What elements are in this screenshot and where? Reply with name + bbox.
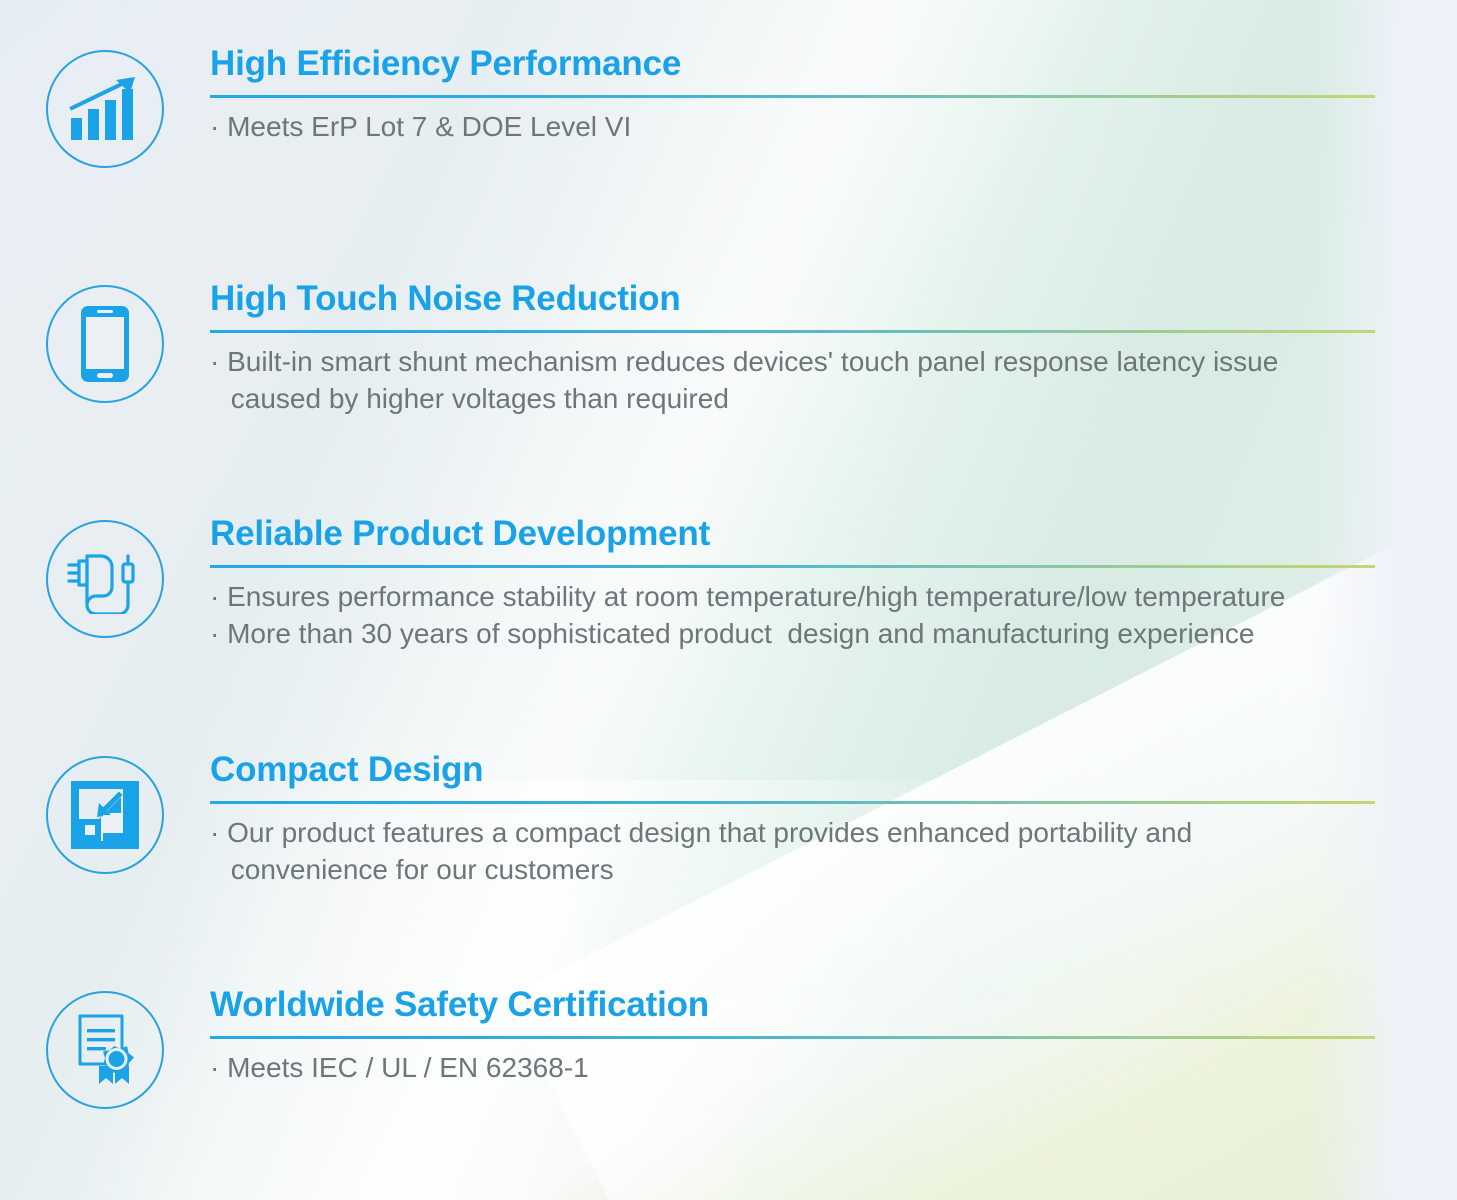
feature-bullet: More than 30 years of sophisticated prod… [210,615,1375,652]
feature-bullet-list: Ensures performance stability at room te… [210,578,1375,652]
certificate-seal-icon [46,991,164,1109]
feature-divider-rule [210,1036,1375,1039]
feature-bullet: Meets IEC / UL / EN 62368-1 [210,1049,1375,1086]
feature-bullet-list: Our product features a compact design th… [210,814,1375,888]
feature-item-compact-design: Compact Design Our product features a co… [0,752,1457,888]
feature-title: Compact Design [210,752,1375,787]
feature-item-worldwide-safety-certification: Worldwide Safety Certification Meets IEC… [0,987,1457,1109]
feature-bullet-list: Meets ErP Lot 7 & DOE Level VI [210,108,1375,145]
feature-divider-rule [210,565,1375,568]
feature-item-high-touch-noise-reduction: High Touch Noise Reduction Built-in smar… [0,281,1457,417]
feature-text-block: Compact Design Our product features a co… [210,752,1457,888]
feature-item-reliable-product-development: Reliable Product Development Ensures per… [0,516,1457,652]
bar-chart-growth-icon [46,50,164,168]
feature-title: Reliable Product Development [210,516,1375,551]
feature-title: High Efficiency Performance [210,46,1375,81]
smartphone-icon [46,285,164,403]
feature-text-block: High Efficiency Performance Meets ErP Lo… [210,46,1457,145]
feature-bullet-list: Built-in smart shunt mechanism reduces d… [210,343,1375,417]
power-adapter-icon [46,520,164,638]
feature-bullet-list: Meets IEC / UL / EN 62368-1 [210,1049,1375,1086]
feature-text-block: High Touch Noise Reduction Built-in smar… [210,281,1457,417]
feature-item-high-efficiency-performance: High Efficiency Performance Meets ErP Lo… [0,46,1457,168]
feature-icon-slot [0,516,210,638]
compact-resize-icon [46,756,164,874]
feature-bullet: Built-in smart shunt mechanism reduces d… [210,343,1375,417]
feature-text-block: Reliable Product Development Ensures per… [210,516,1457,652]
feature-text-block: Worldwide Safety Certification Meets IEC… [210,987,1457,1086]
feature-icon-slot [0,752,210,874]
feature-icon-slot [0,46,210,168]
feature-icon-slot [0,987,210,1109]
feature-list: High Efficiency Performance Meets ErP Lo… [0,0,1457,1200]
feature-bullet: Our product features a compact design th… [210,814,1375,888]
feature-divider-rule [210,330,1375,333]
feature-bullet: Ensures performance stability at room te… [210,578,1375,615]
feature-bullet: Meets ErP Lot 7 & DOE Level VI [210,108,1375,145]
feature-title: High Touch Noise Reduction [210,281,1375,316]
feature-icon-slot [0,281,210,403]
feature-divider-rule [210,95,1375,98]
feature-divider-rule [210,801,1375,804]
feature-title: Worldwide Safety Certification [210,987,1375,1022]
